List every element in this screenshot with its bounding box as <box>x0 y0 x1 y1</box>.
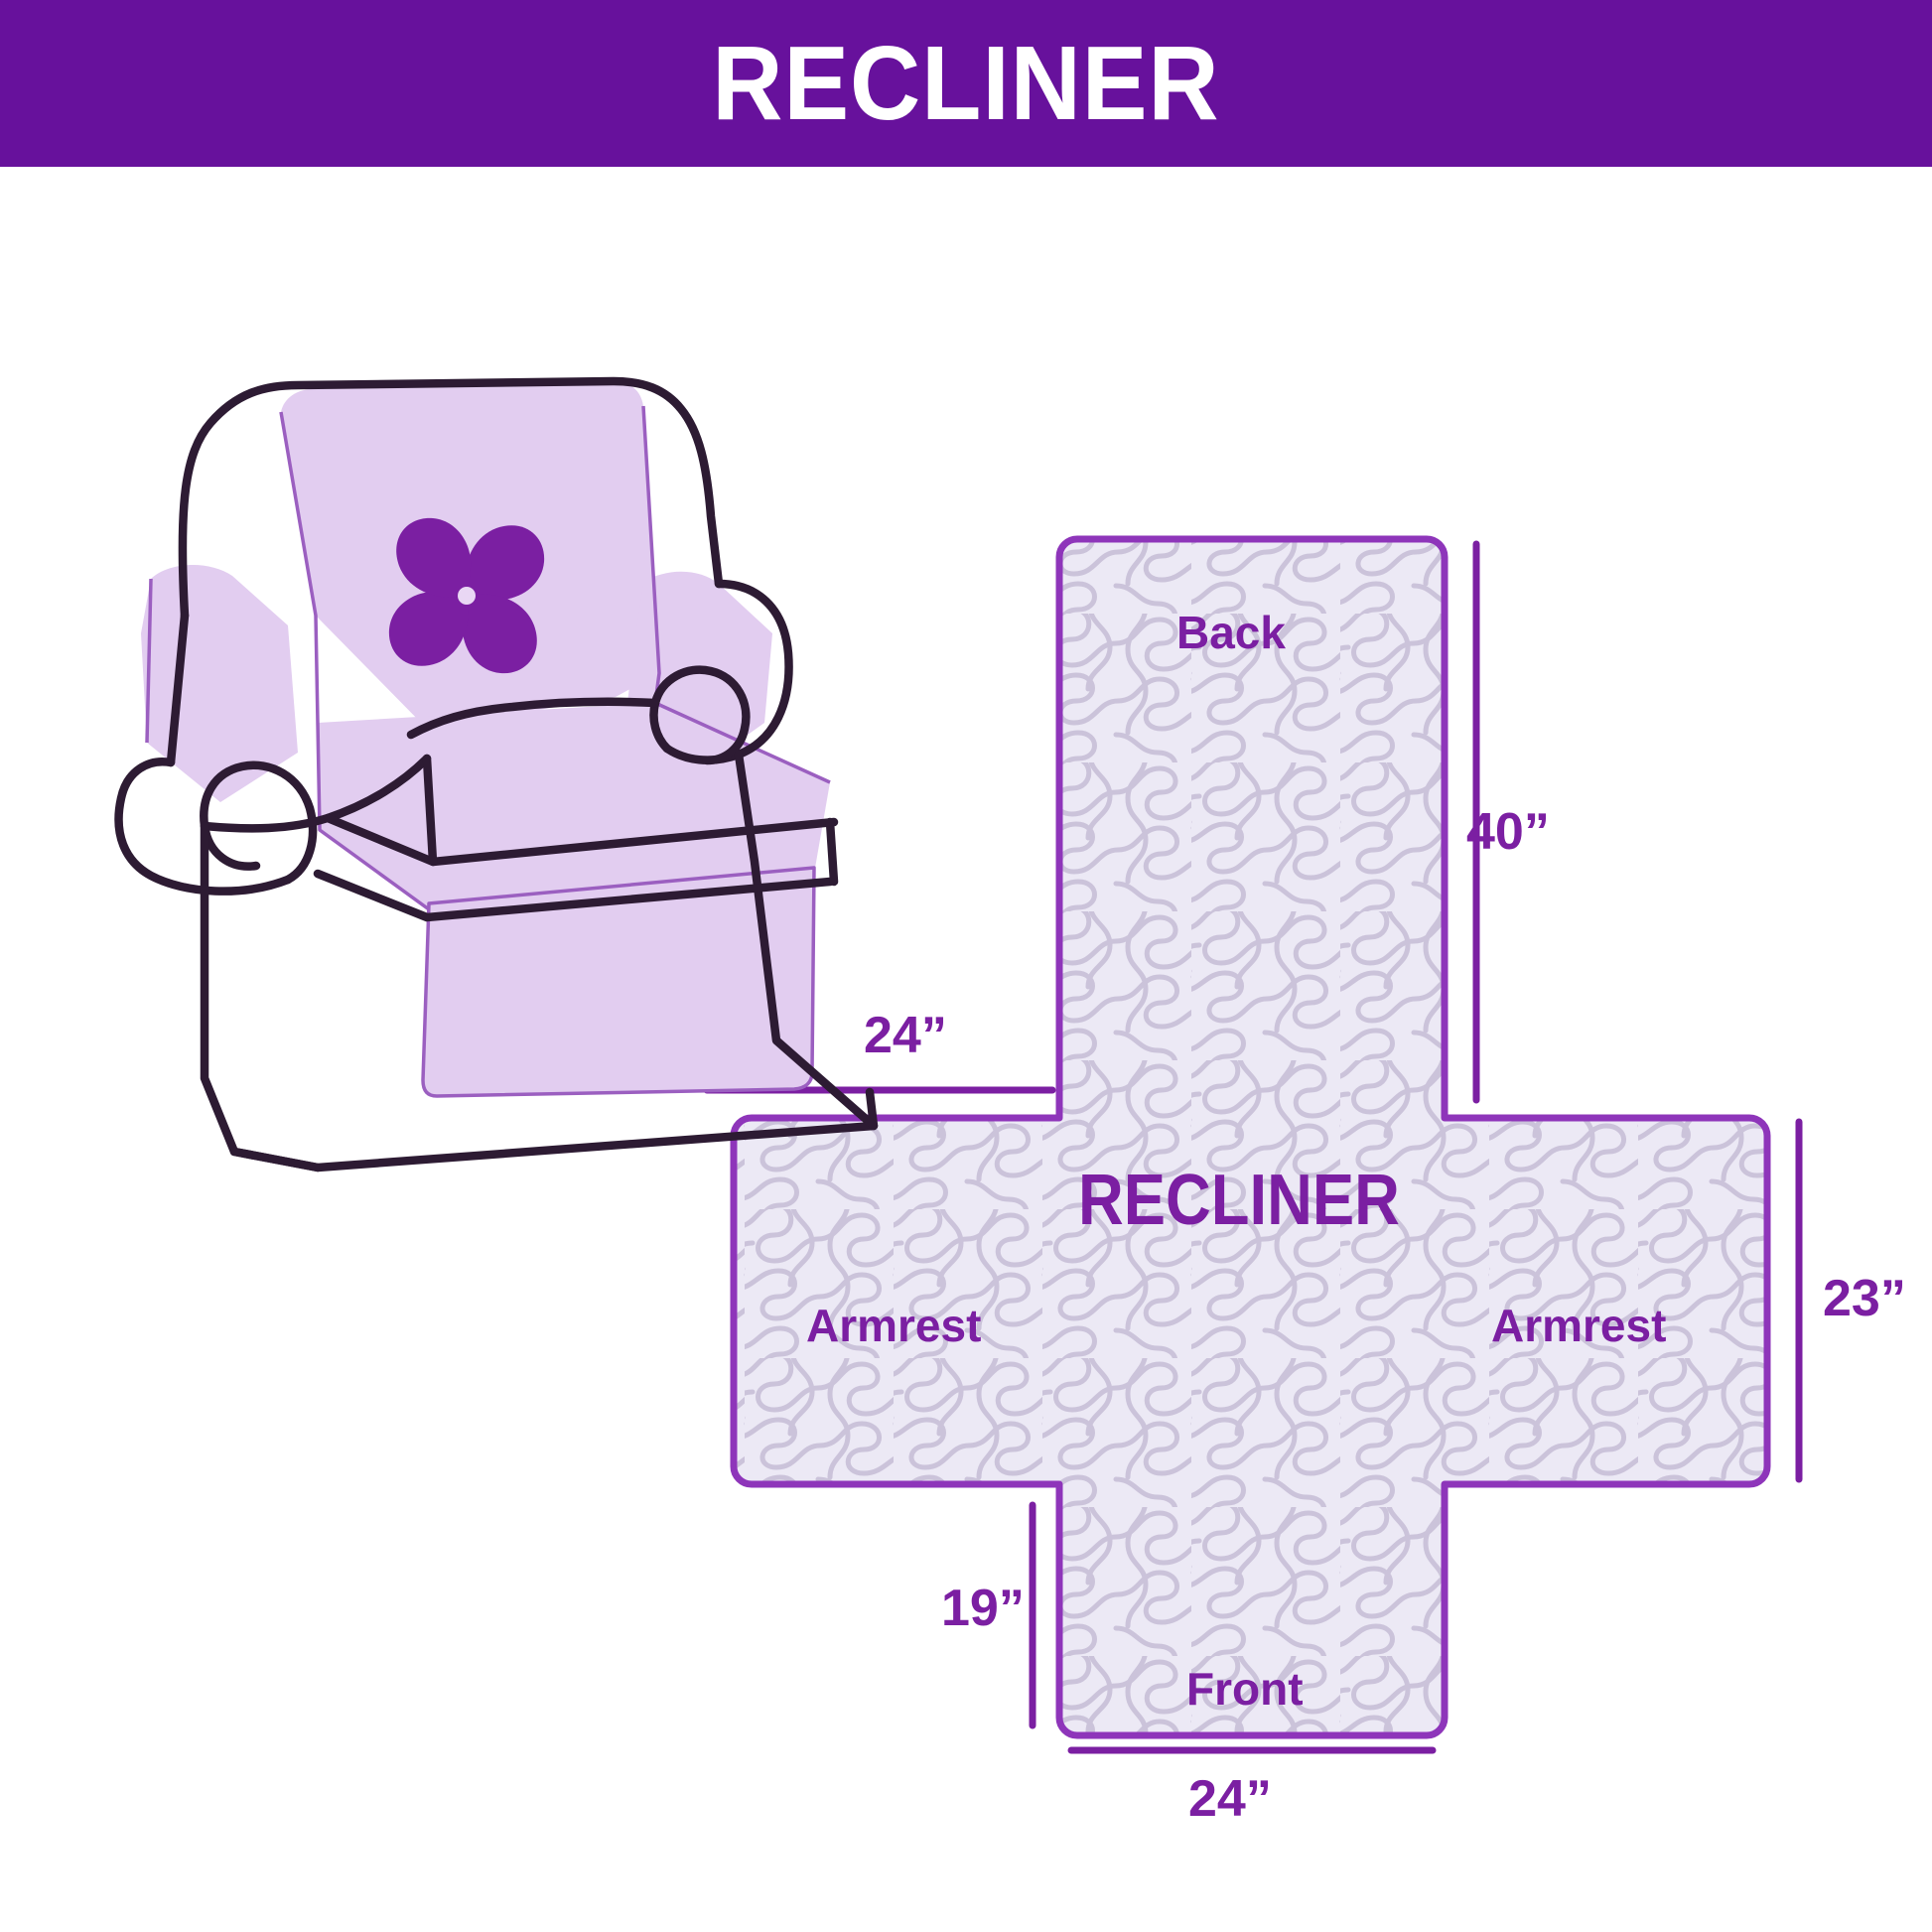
section-label-armrest-left: Armrest <box>806 1299 981 1352</box>
cover-pattern-shape <box>734 539 1767 1735</box>
diagram-stage: Back RECLINER Armrest Armrest Front 40” … <box>0 167 1932 1932</box>
recliner-chair-illustration <box>119 381 874 1168</box>
page-title: RECLINER <box>712 31 1219 136</box>
section-label-front: Front <box>1186 1662 1304 1716</box>
dimension-label-23in: 23” <box>1823 1269 1906 1328</box>
center-label-recliner: RECLINER <box>1078 1160 1400 1241</box>
page-header: RECLINER <box>0 0 1932 167</box>
section-label-armrest-right: Armrest <box>1491 1299 1666 1352</box>
chair-cover-fill <box>141 383 830 1096</box>
dimension-label-40in: 40” <box>1466 802 1550 862</box>
dimension-label-19in: 19” <box>941 1579 1025 1638</box>
dimension-label-24in-bottom: 24” <box>1188 1769 1272 1829</box>
diagram-canvas <box>0 167 1932 1932</box>
section-label-back: Back <box>1176 606 1286 659</box>
dimension-label-24in-top: 24” <box>864 1006 947 1065</box>
